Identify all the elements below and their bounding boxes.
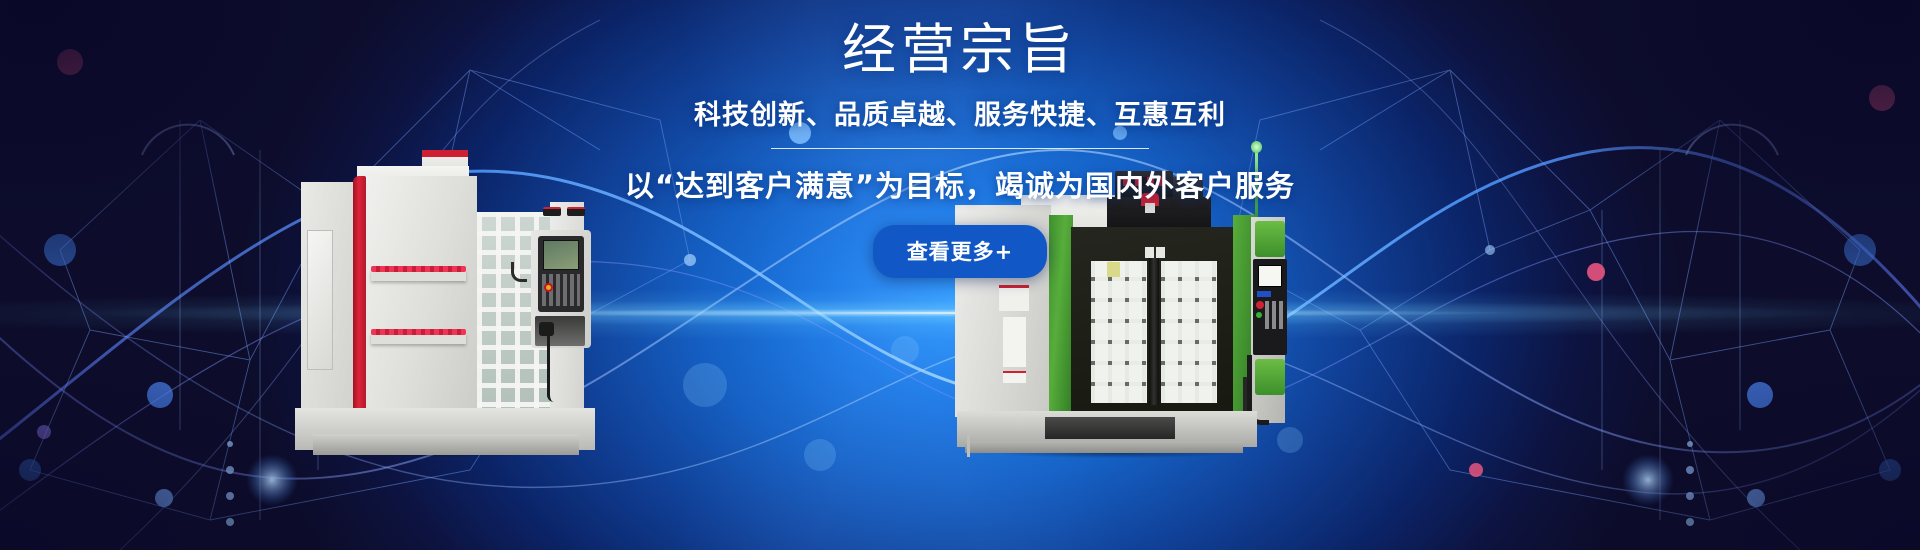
cnc-machine-left-image [295,150,605,455]
right-machine-base-foot [965,441,1243,453]
cnc-machine-right-image [955,165,1285,455]
left-machine-top-red-strip [422,150,468,157]
right-machine-start-button [1256,312,1262,318]
right-machine-signal-tower [1255,147,1258,219]
right-machine-status-led [1123,177,1165,186]
left-machine-emergency-stop-button [544,283,553,292]
left-machine-indicator-lamp [543,207,561,216]
right-machine-signal-lamp [1251,141,1262,153]
right-machine-window-left [1091,261,1147,403]
left-machine-base-skirt [313,434,579,455]
right-machine-warning-label [1003,371,1026,383]
right-machine-panel-keypad [1265,301,1285,329]
right-machine-warning-label [999,285,1029,311]
cta-wrapper: 查看更多+ [0,225,1920,278]
right-machine-panel-display [1257,291,1271,297]
left-machine-indicator-lamp [567,207,585,216]
left-machine-cable [547,328,554,402]
right-machine-spec-label [1003,317,1026,367]
right-machine-beacon-stem [1145,203,1155,213]
right-machine-emergency-stop-button [1256,301,1264,309]
view-more-button[interactable]: 查看更多+ [873,225,1048,278]
right-machine-base-recess [1045,417,1175,439]
right-machine-window-right [1161,261,1217,403]
left-machine-front-face [361,176,477,426]
left-machine-red-edge [353,176,366,428]
left-machine-shelf-parts [371,329,466,335]
right-machine-drain-pipe [967,435,970,457]
hero-banner: 经营宗旨 科技创新、品质卓越、服务快捷、互惠互利 以“达到客户满意”为目标，竭诚… [0,0,1920,550]
